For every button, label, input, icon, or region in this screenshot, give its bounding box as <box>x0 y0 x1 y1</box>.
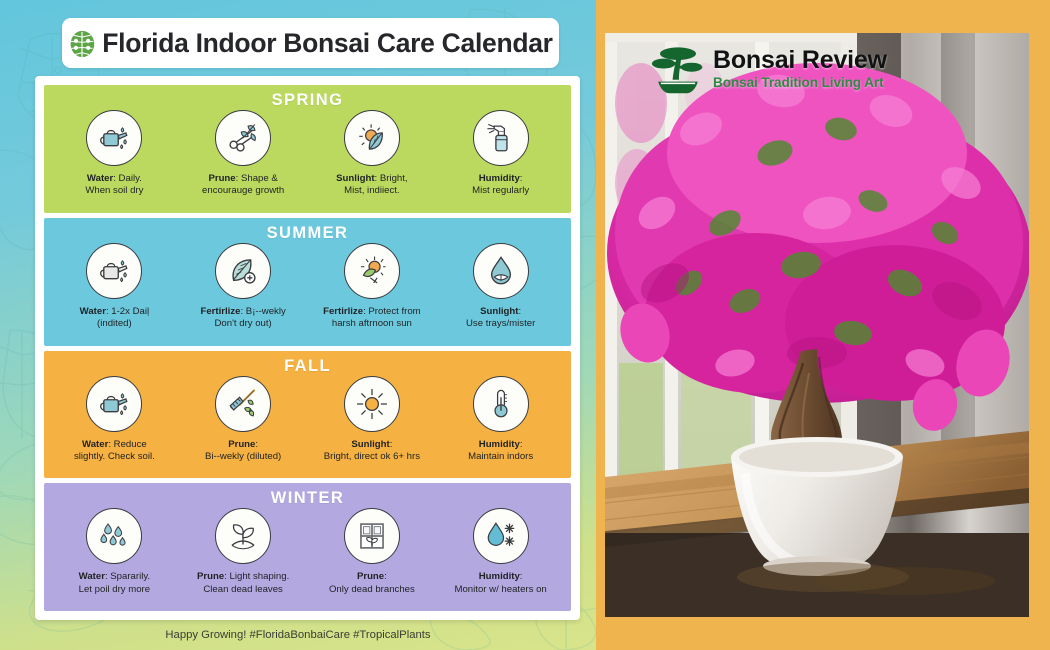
season-title-winter: WINTER <box>44 489 571 507</box>
care-text: : Shape & <box>236 173 278 184</box>
care-text: : <box>518 306 521 317</box>
monstera-leaf-icon <box>68 29 96 59</box>
care-text: : Light shaping. <box>224 571 289 582</box>
season-items-spring: Water: Daily. When soil dry <box>44 109 571 213</box>
care-item-caption: Water: 1-2x Daiļ (indited) <box>80 306 150 331</box>
care-text: : <box>520 571 523 582</box>
care-text-2: harsh aftrnoon sun <box>332 318 412 329</box>
care-text: : Protect from <box>363 306 421 317</box>
bonsai-photo <box>605 33 1029 617</box>
seasons-card: SPRING Wate <box>35 76 580 620</box>
care-item-caption: Sunlight: Bright, Mist, indiiect. <box>336 173 407 198</box>
care-item: Humidity: Monitor w/ heaters on <box>436 508 565 596</box>
care-item: Water: Spararily. Let poil dry more <box>50 508 179 596</box>
care-text: : B¡--wekly <box>240 306 285 317</box>
sun-leaf-icon <box>344 110 400 166</box>
care-item-caption: Fertirlize: B¡--wekly Don't dry out) <box>200 306 285 331</box>
season-band-summer: SUMMER Wate <box>44 218 571 346</box>
care-item: Prune: Bi--wekly (diluted) <box>179 376 308 464</box>
care-text-2: Only dead branches <box>329 584 415 595</box>
season-title-summer: SUMMER <box>44 224 571 242</box>
care-text-2: Clean dead leaves <box>203 584 282 595</box>
care-text-2: Let poil dry more <box>79 584 150 595</box>
care-label: Water <box>80 306 106 317</box>
sun-icon <box>344 376 400 432</box>
care-text-2: (indited) <box>97 318 132 329</box>
thermometer-icon <box>473 376 529 432</box>
footer-hashtags: Happy Growing! #FloridaBonbaiCare #Tropi… <box>0 620 596 650</box>
care-label: Prune <box>197 571 224 582</box>
care-text-2: Don't dry out) <box>214 318 271 329</box>
care-text-2: Mist, indiiect. <box>344 185 399 196</box>
season-band-fall: FALL Water: <box>44 351 571 479</box>
calendar-panel: Florida Indoor Bonsai Care Calendar SPRI… <box>0 0 596 650</box>
care-item-caption: Humidity: Mist regularly <box>472 173 529 198</box>
page-title: Florida Indoor Bonsai Care Calendar <box>102 28 552 59</box>
season-title-spring: SPRING <box>44 91 571 109</box>
watering-can-icon <box>86 376 142 432</box>
season-band-winter: WINTER <box>44 483 571 611</box>
care-text-2: slightly. Check soil. <box>74 451 155 462</box>
bonsai-tree-logo-icon <box>651 42 705 96</box>
care-item-caption: Prune: Light shaping. Clean dead leaves <box>197 571 289 596</box>
season-items-fall: Water: Reduce slightly. Check soil. <box>44 375 571 479</box>
care-text-2: Bright, direct ok 6+ hrs <box>324 451 420 462</box>
photo-panel: Bonsai Review Bonsai Tradition Living Ar… <box>596 0 1050 650</box>
care-item-caption: Humidity: Monitor w/ heaters on <box>454 571 546 596</box>
care-text-2: Use trays/mister <box>466 318 535 329</box>
care-item: Water: Reduce slightly. Check soil. <box>50 376 179 464</box>
care-label: Water <box>82 439 108 450</box>
care-item: Prune: Only dead branches <box>308 508 437 596</box>
care-item: Prune: Shape & encourauge growth <box>179 110 308 198</box>
care-text-2: Mist regularly <box>472 185 529 196</box>
care-text: : <box>520 173 523 184</box>
care-label: Water <box>79 571 105 582</box>
care-item-caption: Water: Daily. When soil dry <box>85 173 143 198</box>
bougainvillea-bonsai-illustration <box>605 33 1029 617</box>
seedling-icon <box>215 508 271 564</box>
care-text-2: When soil dry <box>85 185 143 196</box>
care-label: Water <box>87 173 113 184</box>
care-text: : <box>390 439 393 450</box>
window-plant-icon <box>344 508 400 564</box>
care-item: Humidity: Mist regularly <box>436 110 565 198</box>
care-item-caption: Prune: Only dead branches <box>329 571 415 596</box>
care-text: : <box>255 439 258 450</box>
care-item-caption: Water: Spararily. Let poil dry more <box>79 571 150 596</box>
care-item: Humidity: Maintain indors <box>436 376 565 464</box>
care-text-2: Bi--wekly (diluted) <box>205 451 281 462</box>
watering-can-icon <box>86 110 142 166</box>
season-items-summer: Water: 1-2x Daiļ (indited) <box>44 242 571 346</box>
care-item-caption: Humidity: Maintain indors <box>468 439 533 464</box>
season-items-winter: Water: Spararily. Let poil dry more <box>44 507 571 611</box>
brand-logo: Bonsai Review Bonsai Tradition Living Ar… <box>651 42 887 96</box>
drop-snowflake-icon <box>473 508 529 564</box>
care-item-caption: Prune: Bi--wekly (diluted) <box>205 439 281 464</box>
care-text: : Spararily. <box>105 571 150 582</box>
care-label: Fertirlize <box>323 306 363 317</box>
rain-drops-icon <box>86 508 142 564</box>
care-label: Fertirlize <box>200 306 240 317</box>
care-item: Sunlight: Bright, direct ok 6+ hrs <box>308 376 437 464</box>
care-text: : Bright, <box>375 173 408 184</box>
care-text-2: encourauge growth <box>202 185 284 196</box>
care-item-caption: Fertirlize: Protect from harsh aftrnoon … <box>323 306 421 331</box>
season-band-spring: SPRING Wate <box>44 85 571 213</box>
spray-bottle-icon <box>473 110 529 166</box>
care-item: Prune: Light shaping. Clean dead leaves <box>179 508 308 596</box>
care-text-2: Monitor w/ heaters on <box>454 584 546 595</box>
logo-title: Bonsai Review <box>713 48 887 73</box>
care-text: : Daily. <box>113 173 142 184</box>
care-item: Water: Daily. When soil dry <box>50 110 179 198</box>
care-text: : 1-2x Daiļ <box>106 306 149 317</box>
page-title-banner: Florida Indoor Bonsai Care Calendar <box>62 18 559 68</box>
care-label: Prune <box>228 439 255 450</box>
care-item: Fertirlize: Protect from harsh aftrnoon … <box>308 243 437 331</box>
pruning-shears-icon <box>215 110 271 166</box>
care-item: Sunlight: Bright, Mist, indiiect. <box>308 110 437 198</box>
sun-shade-icon <box>344 243 400 299</box>
care-label: Sunlight <box>480 306 518 317</box>
care-item-caption: Prune: Shape & encourauge growth <box>202 173 284 198</box>
care-item-caption: Sunlight: Bright, direct ok 6+ hrs <box>324 439 420 464</box>
care-label: Prune <box>357 571 384 582</box>
care-item-caption: Water: Reduce slightly. Check soil. <box>74 439 155 464</box>
care-text: : Reduce <box>108 439 146 450</box>
watering-can-icon <box>86 243 142 299</box>
leaf-plus-icon <box>215 243 271 299</box>
care-text-2: Maintain indors <box>468 451 533 462</box>
care-label: Sunlight <box>336 173 374 184</box>
care-text: : <box>520 439 523 450</box>
care-label: Humidity <box>479 439 520 450</box>
care-item: Fertirlize: B¡--wekly Don't dry out) <box>179 243 308 331</box>
care-item: Sunlight: Use trays/mister <box>436 243 565 331</box>
logo-tagline: Bonsai Tradition Living Art <box>713 76 887 90</box>
care-label: Humidity <box>479 571 520 582</box>
care-text: : <box>384 571 387 582</box>
rake-leaf-icon <box>215 376 271 432</box>
care-item-caption: Sunlight: Use trays/mister <box>466 306 535 331</box>
water-drop-icon <box>473 243 529 299</box>
care-label: Sunlight <box>351 439 389 450</box>
care-item: Water: 1-2x Daiļ (indited) <box>50 243 179 331</box>
care-label: Humidity <box>479 173 520 184</box>
infographic-stage: Florida Indoor Bonsai Care Calendar SPRI… <box>0 0 1050 650</box>
care-label: Prune <box>208 173 235 184</box>
season-title-fall: FALL <box>44 357 571 375</box>
